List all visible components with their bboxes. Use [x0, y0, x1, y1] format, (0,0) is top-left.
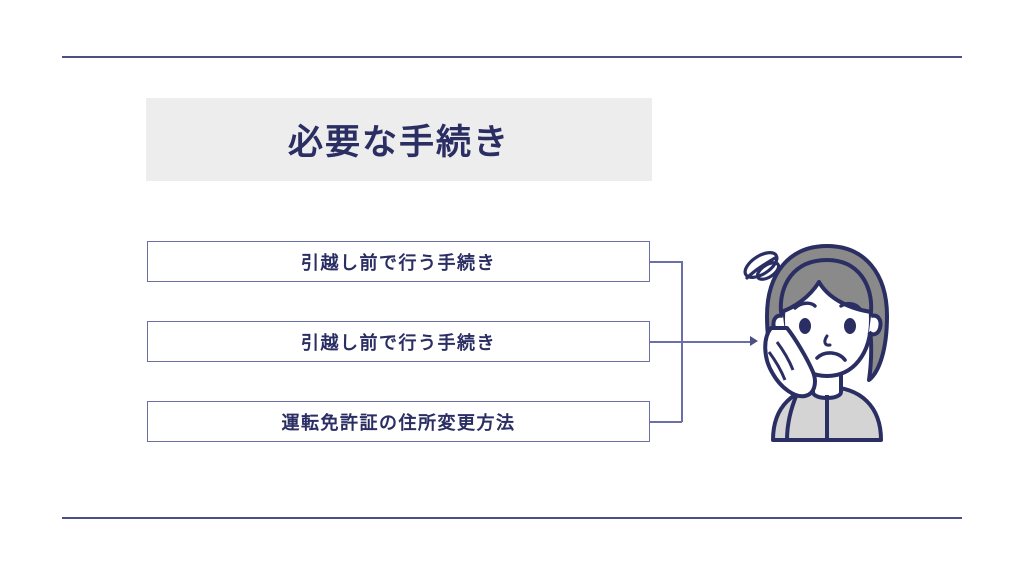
page-title: 必要な手続き [146, 98, 652, 181]
bottom-divider-rule [62, 517, 962, 519]
list-item[interactable]: 引越し前で行う手続き [147, 321, 650, 362]
list-item[interactable]: 引越し前で行う手続き [147, 241, 650, 282]
list-item-label: 運転免許証の住所変更方法 [282, 409, 516, 435]
list-item-label: 引越し前で行う手続き [301, 249, 496, 275]
list-item[interactable]: 運転免許証の住所変更方法 [147, 401, 650, 442]
connector-line-item-2 [650, 341, 682, 343]
list-item-label: 引越し前で行う手続き [301, 329, 496, 355]
woman-figure [765, 246, 887, 440]
worried-woman-illustration [735, 232, 920, 442]
top-divider-rule [62, 56, 962, 58]
slide-canvas: 必要な手続き 引越し前で行う手続き 引越し前で行う手続き 運転免許証の住所変更方… [0, 0, 1024, 576]
connector-line-item-1 [650, 261, 682, 263]
connector-line-item-3 [650, 421, 682, 423]
